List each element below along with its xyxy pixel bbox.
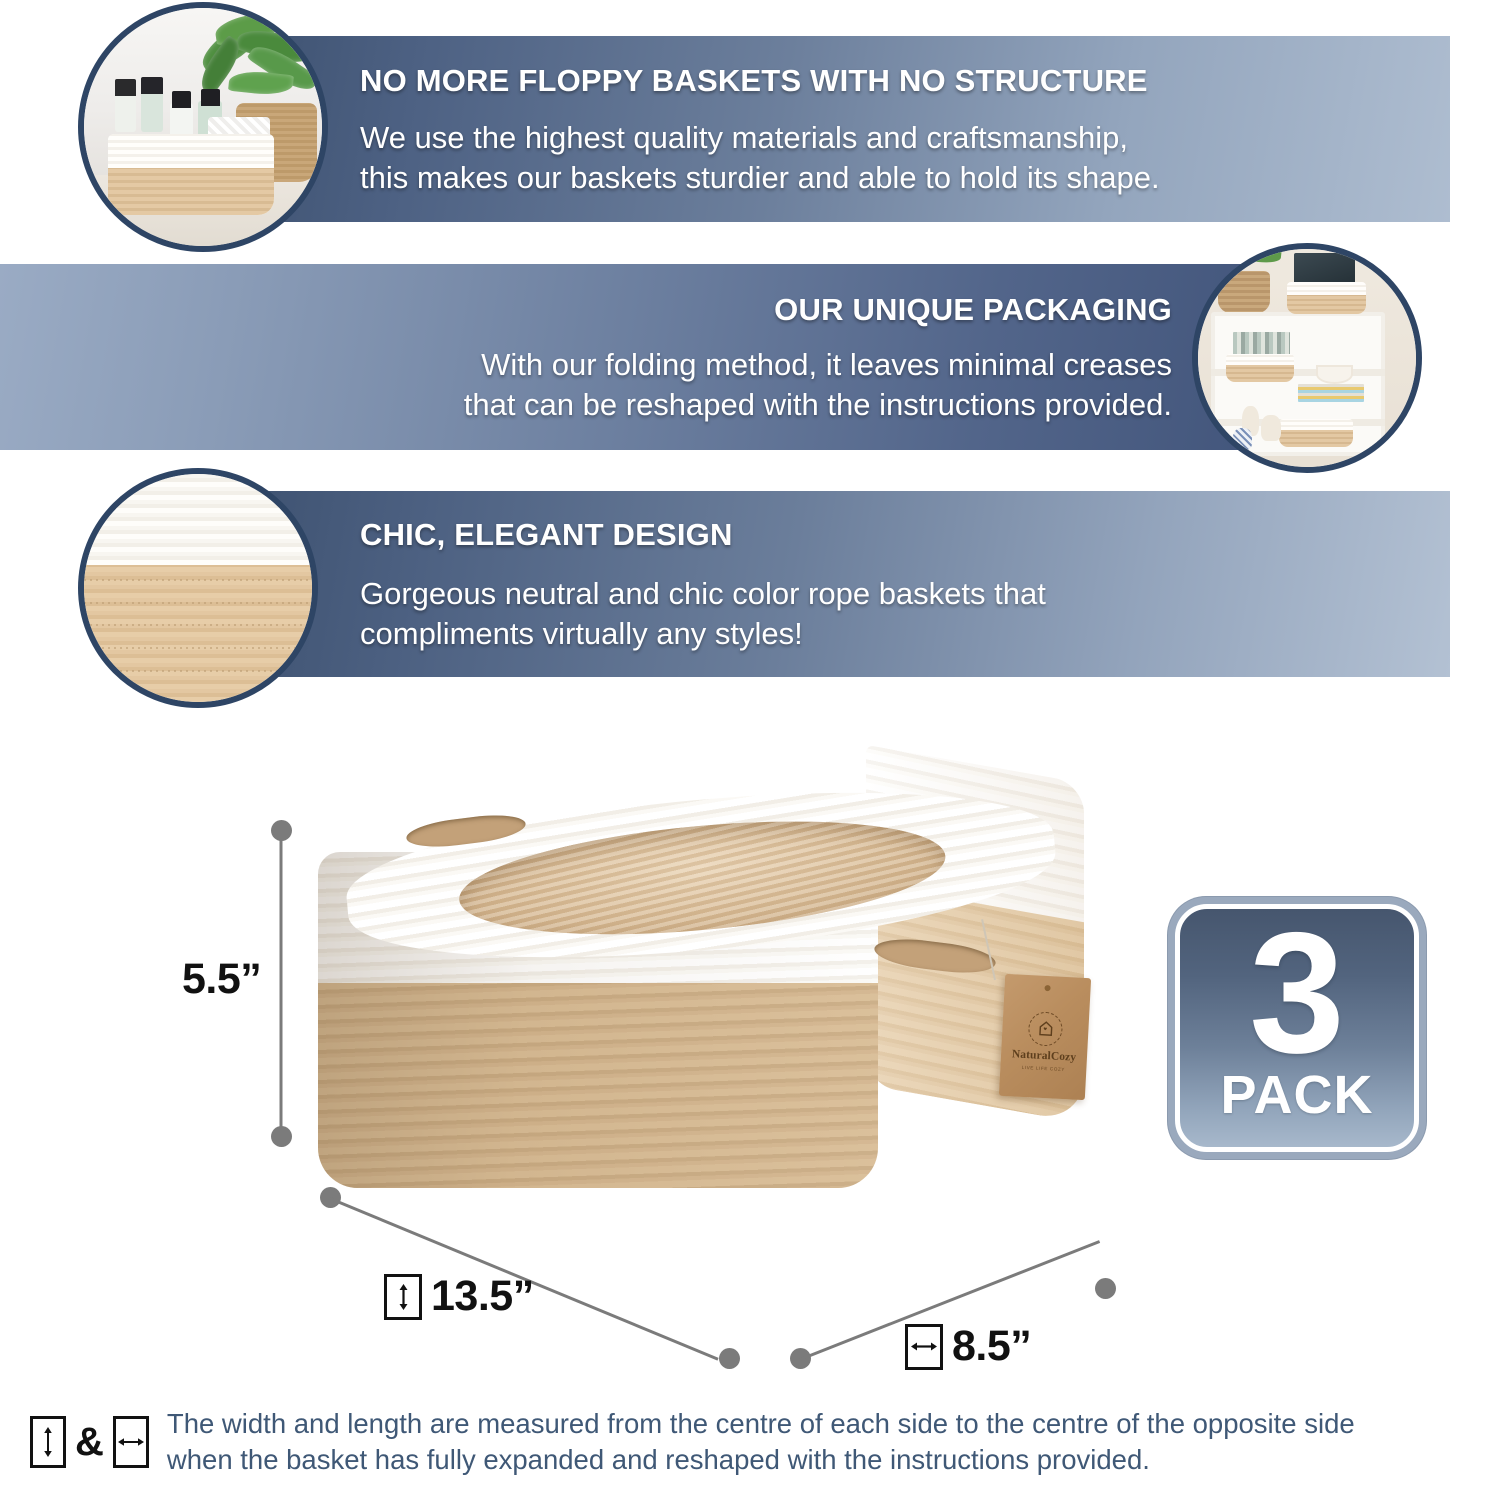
footnote-line: when the basket has fully expanded and r… — [167, 1442, 1355, 1478]
toiletry-bottle — [172, 91, 191, 108]
toiletry-bottle — [141, 77, 162, 94]
basket-white-band — [1226, 354, 1294, 365]
banner-body-line: Gorgeous neutral and chic color rope bas… — [360, 574, 1450, 614]
width-dot-end — [1095, 1278, 1116, 1299]
brand-name: NaturalCozy — [1012, 1048, 1077, 1063]
length-value: 13.5” — [431, 1272, 534, 1321]
hang-tag: NaturalCozy LIVE LIFE COZY — [999, 974, 1091, 1100]
footnote-line: The width and length are measured from t… — [167, 1406, 1355, 1442]
rope-stitch-line — [84, 602, 312, 604]
blue-pattern-vase — [1233, 428, 1253, 450]
height-dot-bottom — [271, 1126, 292, 1147]
hang-tag-hole — [1044, 985, 1050, 991]
basket-tan-band — [1279, 430, 1353, 447]
banner-body: With our folding method, it leaves minim… — [464, 345, 1172, 424]
naturalcozy-house-logo-icon — [1028, 1011, 1064, 1047]
banner-body-line: With our folding method, it leaves minim… — [464, 345, 1172, 385]
banner-body-line: that can be reshaped with the instructio… — [464, 385, 1172, 425]
basket-tan-band — [1226, 365, 1294, 382]
vertical-arrow-icon — [384, 1274, 422, 1320]
height-label: 5.5” — [182, 955, 261, 1004]
ceramic-vase — [1261, 415, 1281, 441]
basket-white-band — [1279, 419, 1353, 430]
banner-title: CHIC, ELEGANT DESIGN — [360, 518, 1450, 552]
rope-stitch-line — [84, 670, 312, 672]
rope-stitch-line — [84, 579, 312, 581]
ampersand-label: & — [75, 1422, 104, 1462]
height-value: 5.5” — [182, 955, 261, 1004]
horizontal-arrow-icon — [113, 1416, 149, 1468]
feature-banner-unique-packaging: OUR UNIQUE PACKAGING With our folding me… — [0, 264, 1290, 450]
banner-body: Gorgeous neutral and chic color rope bas… — [360, 574, 1450, 653]
rope-basket-middle-shelf — [1226, 354, 1294, 382]
banner-title: OUR UNIQUE PACKAGING — [774, 293, 1172, 327]
rope-texture-photo — [78, 468, 318, 708]
pack-count-word: PACK — [1220, 1064, 1373, 1126]
feature-banner-chic-design: CHIC, ELEGANT DESIGN Gorgeous neutral an… — [250, 491, 1450, 677]
rope-basket-in-photo — [108, 134, 275, 215]
rope-stitch-line — [84, 624, 312, 626]
banner-body-line: compliments virtually any styles! — [360, 614, 1450, 654]
footnote-icons: & — [30, 1416, 149, 1468]
brand-tagline: LIVE LIFE COZY — [1022, 1064, 1066, 1071]
banner-title: NO MORE FLOPPY BASKETS WITH NO STRUCTURE — [360, 64, 1450, 98]
width-label: 8.5” — [905, 1322, 1031, 1371]
footnote-text: The width and length are measured from t… — [163, 1406, 1355, 1479]
height-measure-line — [280, 832, 283, 1144]
shelf-styling-photo — [1192, 243, 1422, 473]
measurement-footnote: & The width and length are measured from… — [30, 1402, 1470, 1482]
basket-tan-band — [1287, 295, 1365, 315]
main-product-basket: NaturalCozy LIVE LIFE COZY — [318, 800, 1108, 1220]
rope-basket-bottom-shelf — [1279, 419, 1353, 447]
basket-white-band — [108, 134, 275, 168]
length-dot-end — [719, 1348, 740, 1369]
pack-badge-inner: 3 PACK — [1175, 904, 1419, 1152]
length-label: 13.5” — [384, 1272, 534, 1321]
book-stack — [1298, 384, 1363, 401]
vertical-arrow-icon — [30, 1416, 66, 1468]
rope-basket-top-shelf — [1287, 282, 1365, 315]
rope-stitch-line — [84, 647, 312, 649]
basket-white-band — [1287, 282, 1365, 295]
rope-tan-section — [84, 565, 312, 702]
banner-body-line: this makes our baskets sturdier and able… — [360, 158, 1450, 198]
horizontal-arrow-icon — [905, 1324, 943, 1370]
feature-banner-no-structure: NO MORE FLOPPY BASKETS WITH NO STRUCTURE… — [250, 36, 1450, 222]
basket-tan-band — [108, 168, 275, 215]
width-value: 8.5” — [952, 1322, 1031, 1371]
pack-count-number: 3 — [1249, 920, 1345, 1068]
bathroom-styling-photo — [78, 2, 328, 252]
rope-white-section — [84, 474, 312, 565]
banner-body: We use the highest quality materials and… — [360, 118, 1450, 197]
pack-count-badge: 3 PACK — [1168, 897, 1426, 1159]
ceramic-bowl — [1316, 365, 1353, 385]
toiletry-bottle — [201, 89, 220, 106]
toiletry-bottle — [115, 79, 136, 96]
banner-body-line: We use the highest quality materials and… — [360, 118, 1450, 158]
